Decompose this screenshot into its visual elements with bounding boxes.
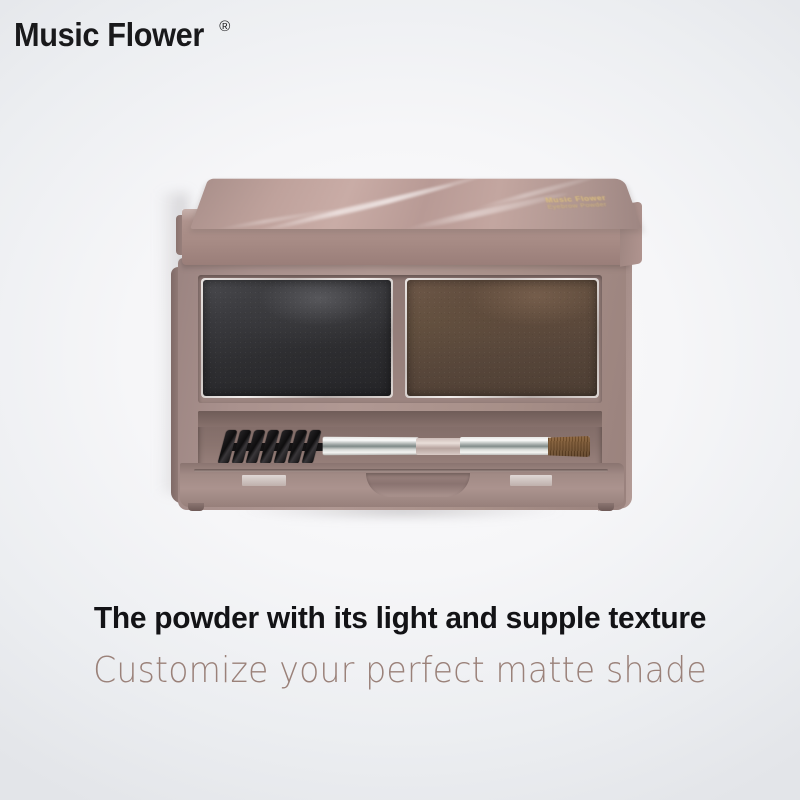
powder-pan-dark bbox=[201, 278, 393, 398]
dual-ended-applicator bbox=[220, 427, 588, 467]
case-front-panel bbox=[180, 463, 624, 507]
tray-back-wall bbox=[198, 411, 602, 427]
lid-top-surface: Music Flower Eyebrow Powder bbox=[190, 179, 642, 229]
lid-print-product-name: Eyebrow Powder bbox=[547, 202, 610, 211]
product-banner: Music Flower ® bbox=[0, 0, 800, 800]
case-front-groove bbox=[194, 469, 608, 472]
product-image-eyebrow-powder-compact: Music Flower Eyebrow Powder bbox=[168, 163, 638, 515]
powder-pan-well bbox=[198, 275, 602, 403]
applicator-ferrule-left bbox=[323, 437, 419, 456]
spoolie-brush-icon bbox=[220, 430, 328, 464]
case-thumb-notch bbox=[366, 473, 470, 497]
powder-pan-brown bbox=[405, 278, 599, 398]
tagline-secondary: Customize your perfect matte shade bbox=[32, 650, 768, 691]
case-front-label-right bbox=[510, 475, 552, 486]
case-front-label-left bbox=[242, 475, 286, 486]
lid-printed-branding: Music Flower Eyebrow Powder bbox=[544, 195, 609, 211]
tagline-primary: The powder with its light and supple tex… bbox=[14, 600, 786, 636]
case-foot-right bbox=[598, 503, 614, 511]
applicator-handle-middle bbox=[416, 438, 464, 455]
applicator-ferrule-right bbox=[460, 437, 552, 455]
brand-logo: Music Flower ® bbox=[14, 18, 230, 51]
brand-name: Music Flower bbox=[14, 18, 204, 51]
powder-surface-brown bbox=[407, 280, 597, 396]
case-foot-left bbox=[188, 503, 204, 511]
registered-trademark-mark: ® bbox=[219, 19, 230, 34]
angled-brush-head-icon bbox=[548, 436, 590, 457]
powder-surface-dark bbox=[203, 280, 391, 396]
